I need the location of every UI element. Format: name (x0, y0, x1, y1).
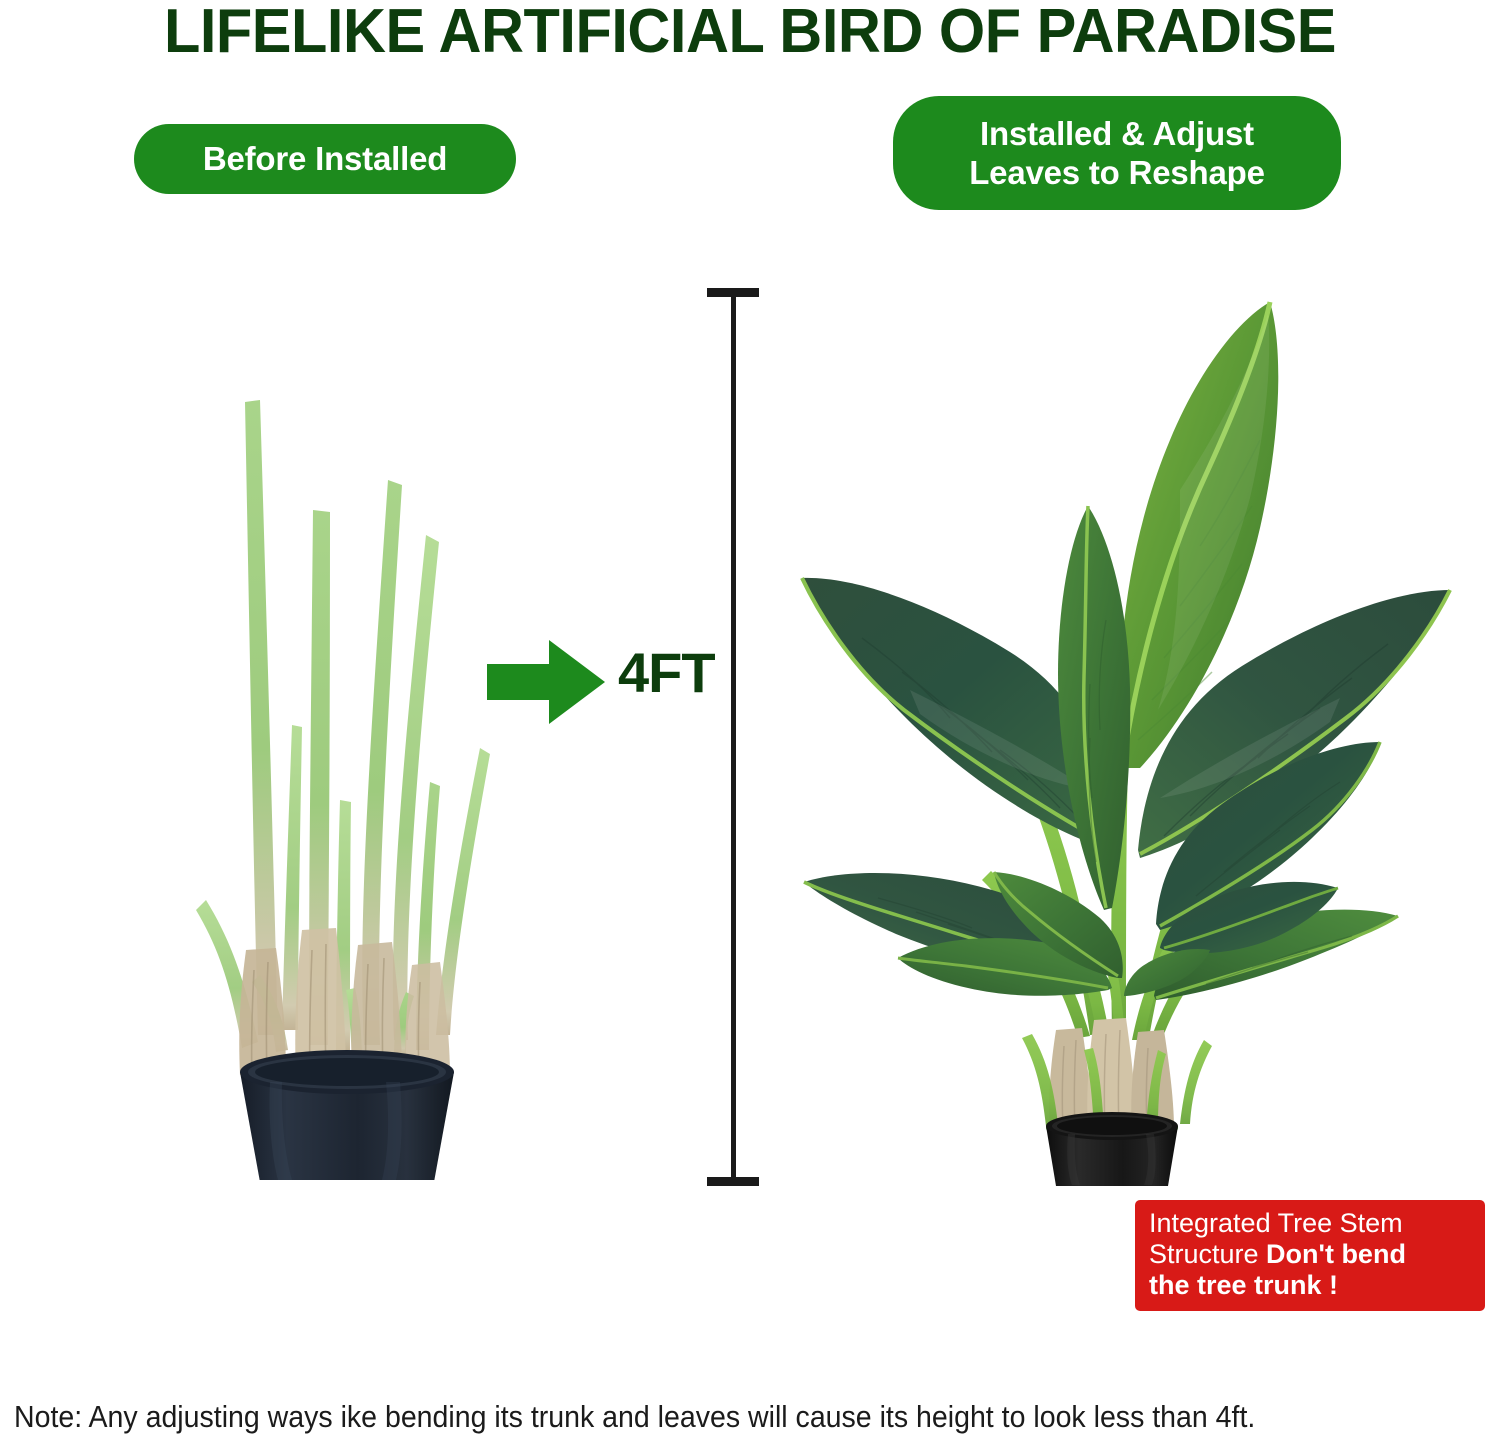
warning-line-2: Structure Don't bend (1149, 1239, 1473, 1270)
warning-line-1: Integrated Tree Stem (1149, 1208, 1473, 1239)
badge-before-label: Before Installed (203, 140, 447, 178)
warning-badge-tree-stem: Integrated Tree Stem Structure Don't ben… (1135, 1200, 1485, 1311)
badge-after-text: Installed & Adjust Leaves to Reshape (969, 114, 1265, 192)
badge-installed-adjust: Installed & Adjust Leaves to Reshape (893, 96, 1341, 210)
ruler-bottom-cap (707, 1177, 759, 1186)
measurement-label: 4FT (618, 641, 715, 705)
badge-after-label-line1: Installed & Adjust (969, 114, 1265, 153)
before-plant-pot (240, 1050, 454, 1180)
warning-line-3: the tree trunk ! (1149, 1270, 1473, 1301)
warning-line-2-strong: Don't bend (1266, 1239, 1406, 1269)
leaf-mid-left-upward (1058, 506, 1130, 910)
installed-plant-image (760, 290, 1490, 1190)
vertical-measure-ruler-icon (707, 288, 759, 1186)
page-title: LIFELIKE ARTIFICIAL BIRD OF PARADISE (30, 0, 1470, 66)
installed-plant-pot (1046, 1112, 1178, 1186)
badge-after-label-line2: Leaves to Reshape (969, 153, 1265, 192)
footer-note: Note: Any adjusting ways ike bending its… (14, 1398, 1376, 1436)
before-installed-plant-image (150, 330, 570, 1180)
product-infographic: LIFELIKE ARTIFICIAL BIRD OF PARADISE Bef… (0, 0, 1500, 1452)
before-plant-stems (196, 400, 490, 1056)
badge-before-installed: Before Installed (134, 124, 516, 194)
warning-line-2-normal: Structure (1149, 1239, 1266, 1269)
right-arrow-icon (487, 636, 607, 728)
ruler-stem-line (731, 288, 736, 1186)
